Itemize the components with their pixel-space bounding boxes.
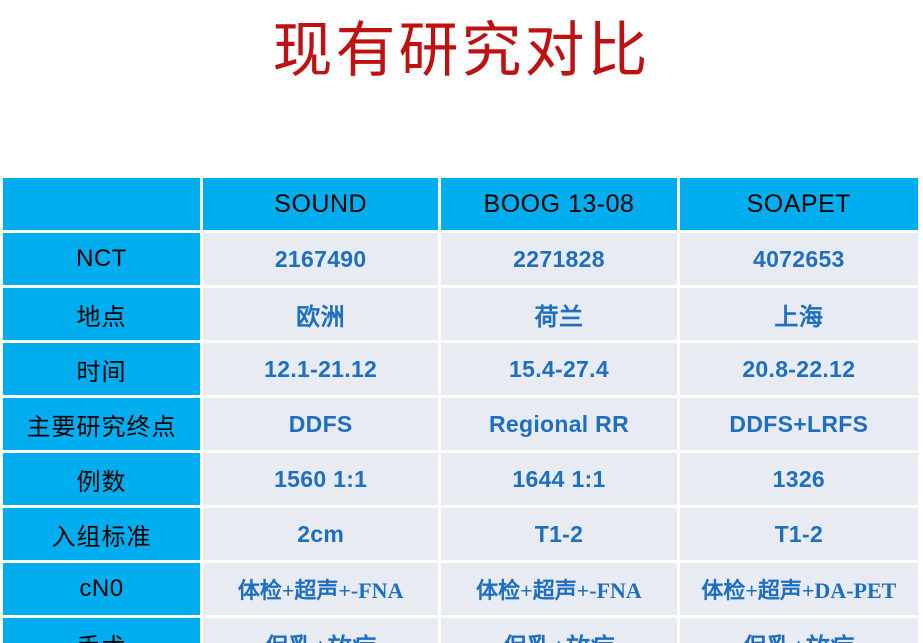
cell-surgery-sound: 保乳+放疗 bbox=[203, 618, 441, 643]
cell-sample-size-sound: 1560 1:1 bbox=[203, 453, 441, 508]
row-label-surgery: 手术 bbox=[3, 618, 203, 643]
study-comparison-table: SOUND BOOG 13-08 SOAPET NCT 2167490 2271… bbox=[3, 178, 918, 643]
table-row: cN0 体检+超声+-FNA 体检+超声+-FNA 体检+超声+DA-PET bbox=[3, 563, 918, 618]
cell-cn0-boog: 体检+超声+-FNA bbox=[441, 563, 679, 618]
table-header: SOUND BOOG 13-08 SOAPET bbox=[3, 178, 918, 233]
cell-nct-sound: 2167490 bbox=[203, 233, 441, 288]
cell-nct-soapet: 4072653 bbox=[680, 233, 918, 288]
cell-inclusion-soapet: T1-2 bbox=[680, 508, 918, 563]
row-label-location: 地点 bbox=[3, 288, 203, 343]
row-label-primary-endpoint: 主要研究终点 bbox=[3, 398, 203, 453]
cell-location-soapet: 上海 bbox=[680, 288, 918, 343]
cell-endpoint-boog: Regional RR bbox=[441, 398, 679, 453]
table-row: 例数 1560 1:1 1644 1:1 1326 bbox=[3, 453, 918, 508]
row-label-time: 时间 bbox=[3, 343, 203, 398]
column-header-sound: SOUND bbox=[203, 178, 441, 233]
cell-time-boog: 15.4-27.4 bbox=[441, 343, 679, 398]
table-row: 入组标准 2cm T1-2 T1-2 bbox=[3, 508, 918, 563]
cell-endpoint-sound: DDFS bbox=[203, 398, 441, 453]
cell-sample-size-soapet: 1326 bbox=[680, 453, 918, 508]
row-label-cn0: cN0 bbox=[3, 563, 203, 618]
table-row: 时间 12.1-21.12 15.4-27.4 20.8-22.12 bbox=[3, 343, 918, 398]
page-title: 现有研究对比 bbox=[0, 14, 923, 88]
cell-location-sound: 欧洲 bbox=[203, 288, 441, 343]
table-row: NCT 2167490 2271828 4072653 bbox=[3, 233, 918, 288]
table-header-row: SOUND BOOG 13-08 SOAPET bbox=[3, 178, 918, 233]
cell-surgery-boog: 保乳+放疗 bbox=[441, 618, 679, 643]
cell-cn0-sound: 体检+超声+-FNA bbox=[203, 563, 441, 618]
column-header-soapet: SOAPET bbox=[680, 178, 918, 233]
cell-inclusion-boog: T1-2 bbox=[441, 508, 679, 563]
table-row: 地点 欧洲 荷兰 上海 bbox=[3, 288, 918, 343]
cell-nct-boog: 2271828 bbox=[441, 233, 679, 288]
row-label-inclusion-criteria: 入组标准 bbox=[3, 508, 203, 563]
cell-time-soapet: 20.8-22.12 bbox=[680, 343, 918, 398]
slide-canvas: 现有研究对比 SOUND BOOG 13-08 SOAPET NCT 21674… bbox=[0, 0, 923, 643]
table-row: 手术 保乳+放疗 保乳+放疗 保乳+放疗 bbox=[3, 618, 918, 643]
cell-time-sound: 12.1-21.12 bbox=[203, 343, 441, 398]
cell-surgery-soapet: 保乳+放疗 bbox=[680, 618, 918, 643]
cell-cn0-soapet: 体检+超声+DA-PET bbox=[680, 563, 918, 618]
cell-sample-size-boog: 1644 1:1 bbox=[441, 453, 679, 508]
row-label-sample-size: 例数 bbox=[3, 453, 203, 508]
cell-location-boog: 荷兰 bbox=[441, 288, 679, 343]
cell-endpoint-soapet: DDFS+LRFS bbox=[680, 398, 918, 453]
table-corner-cell bbox=[3, 178, 203, 233]
column-header-boog: BOOG 13-08 bbox=[441, 178, 679, 233]
row-label-nct: NCT bbox=[3, 233, 203, 288]
table-row: 主要研究终点 DDFS Regional RR DDFS+LRFS bbox=[3, 398, 918, 453]
table-body: NCT 2167490 2271828 4072653 地点 欧洲 荷兰 上海 … bbox=[3, 233, 918, 643]
cell-inclusion-sound: 2cm bbox=[203, 508, 441, 563]
